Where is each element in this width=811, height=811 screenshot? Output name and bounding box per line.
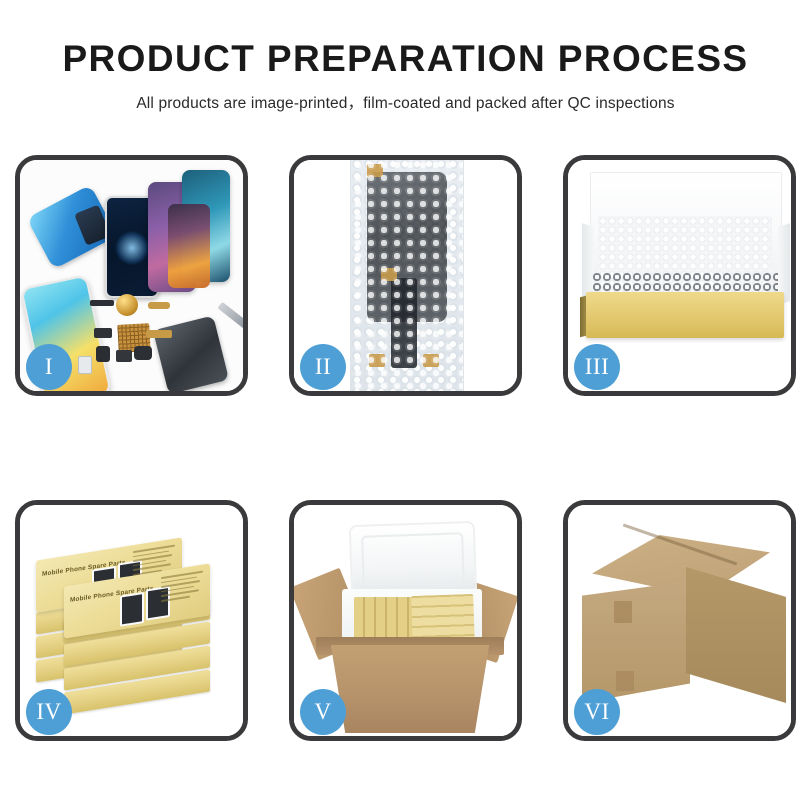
- carton-front-face: [582, 581, 690, 703]
- button-flex-part: [134, 346, 152, 360]
- page-subtitle: All products are image-printed，film-coat…: [0, 91, 811, 113]
- process-step-panel-2: II: [289, 155, 522, 396]
- phone-back-housing: [153, 315, 229, 391]
- vibrator-part: [116, 350, 132, 362]
- page-header: PRODUCT PREPARATION PROCESS All products…: [0, 0, 811, 113]
- camera-module-part: [96, 346, 110, 362]
- step-badge-6: VI: [574, 689, 620, 735]
- earpiece-part: [90, 300, 114, 306]
- flex-cable-part: [148, 302, 170, 309]
- process-step-panel-5: V: [289, 500, 522, 741]
- sim-tray-part: [78, 356, 92, 374]
- process-step-panel-4: Mobile Phone Spare Parts: [15, 500, 248, 741]
- small-connector-part: [94, 328, 112, 338]
- carton-side-face: [686, 567, 786, 703]
- step-badge-5: V: [300, 689, 346, 735]
- box-spec-lines-front: [161, 571, 203, 605]
- carton-tape-upper: [614, 601, 632, 623]
- step-badge-2: II: [300, 344, 346, 390]
- speaker-module-icon: [116, 294, 138, 316]
- process-step-panel-3: III: [563, 155, 796, 396]
- bubble-texture-overlay: [351, 160, 463, 391]
- process-step-panel-1: I: [15, 155, 248, 396]
- step-badge-1: I: [26, 344, 72, 390]
- yellow-box-base: [586, 292, 784, 338]
- blue-screen-protector: [27, 184, 118, 269]
- step-badge-4: IV: [26, 689, 72, 735]
- orange-phone: [168, 204, 210, 288]
- box-art-thumb-b1: [120, 592, 144, 627]
- page-title: PRODUCT PREPARATION PROCESS: [0, 40, 811, 79]
- antenna-cable-part: [146, 330, 172, 338]
- process-step-grid: I II: [15, 155, 796, 741]
- process-step-panel-6: VI: [563, 500, 796, 741]
- tweezers-tool: [217, 302, 243, 330]
- carton-body: [320, 645, 500, 733]
- product-preparation-process-page: PRODUCT PREPARATION PROCESS All products…: [0, 0, 811, 811]
- step-badge-3: III: [574, 344, 620, 390]
- bubble-wrap-sleeve: [350, 160, 464, 391]
- carton-tape-lower: [616, 671, 634, 691]
